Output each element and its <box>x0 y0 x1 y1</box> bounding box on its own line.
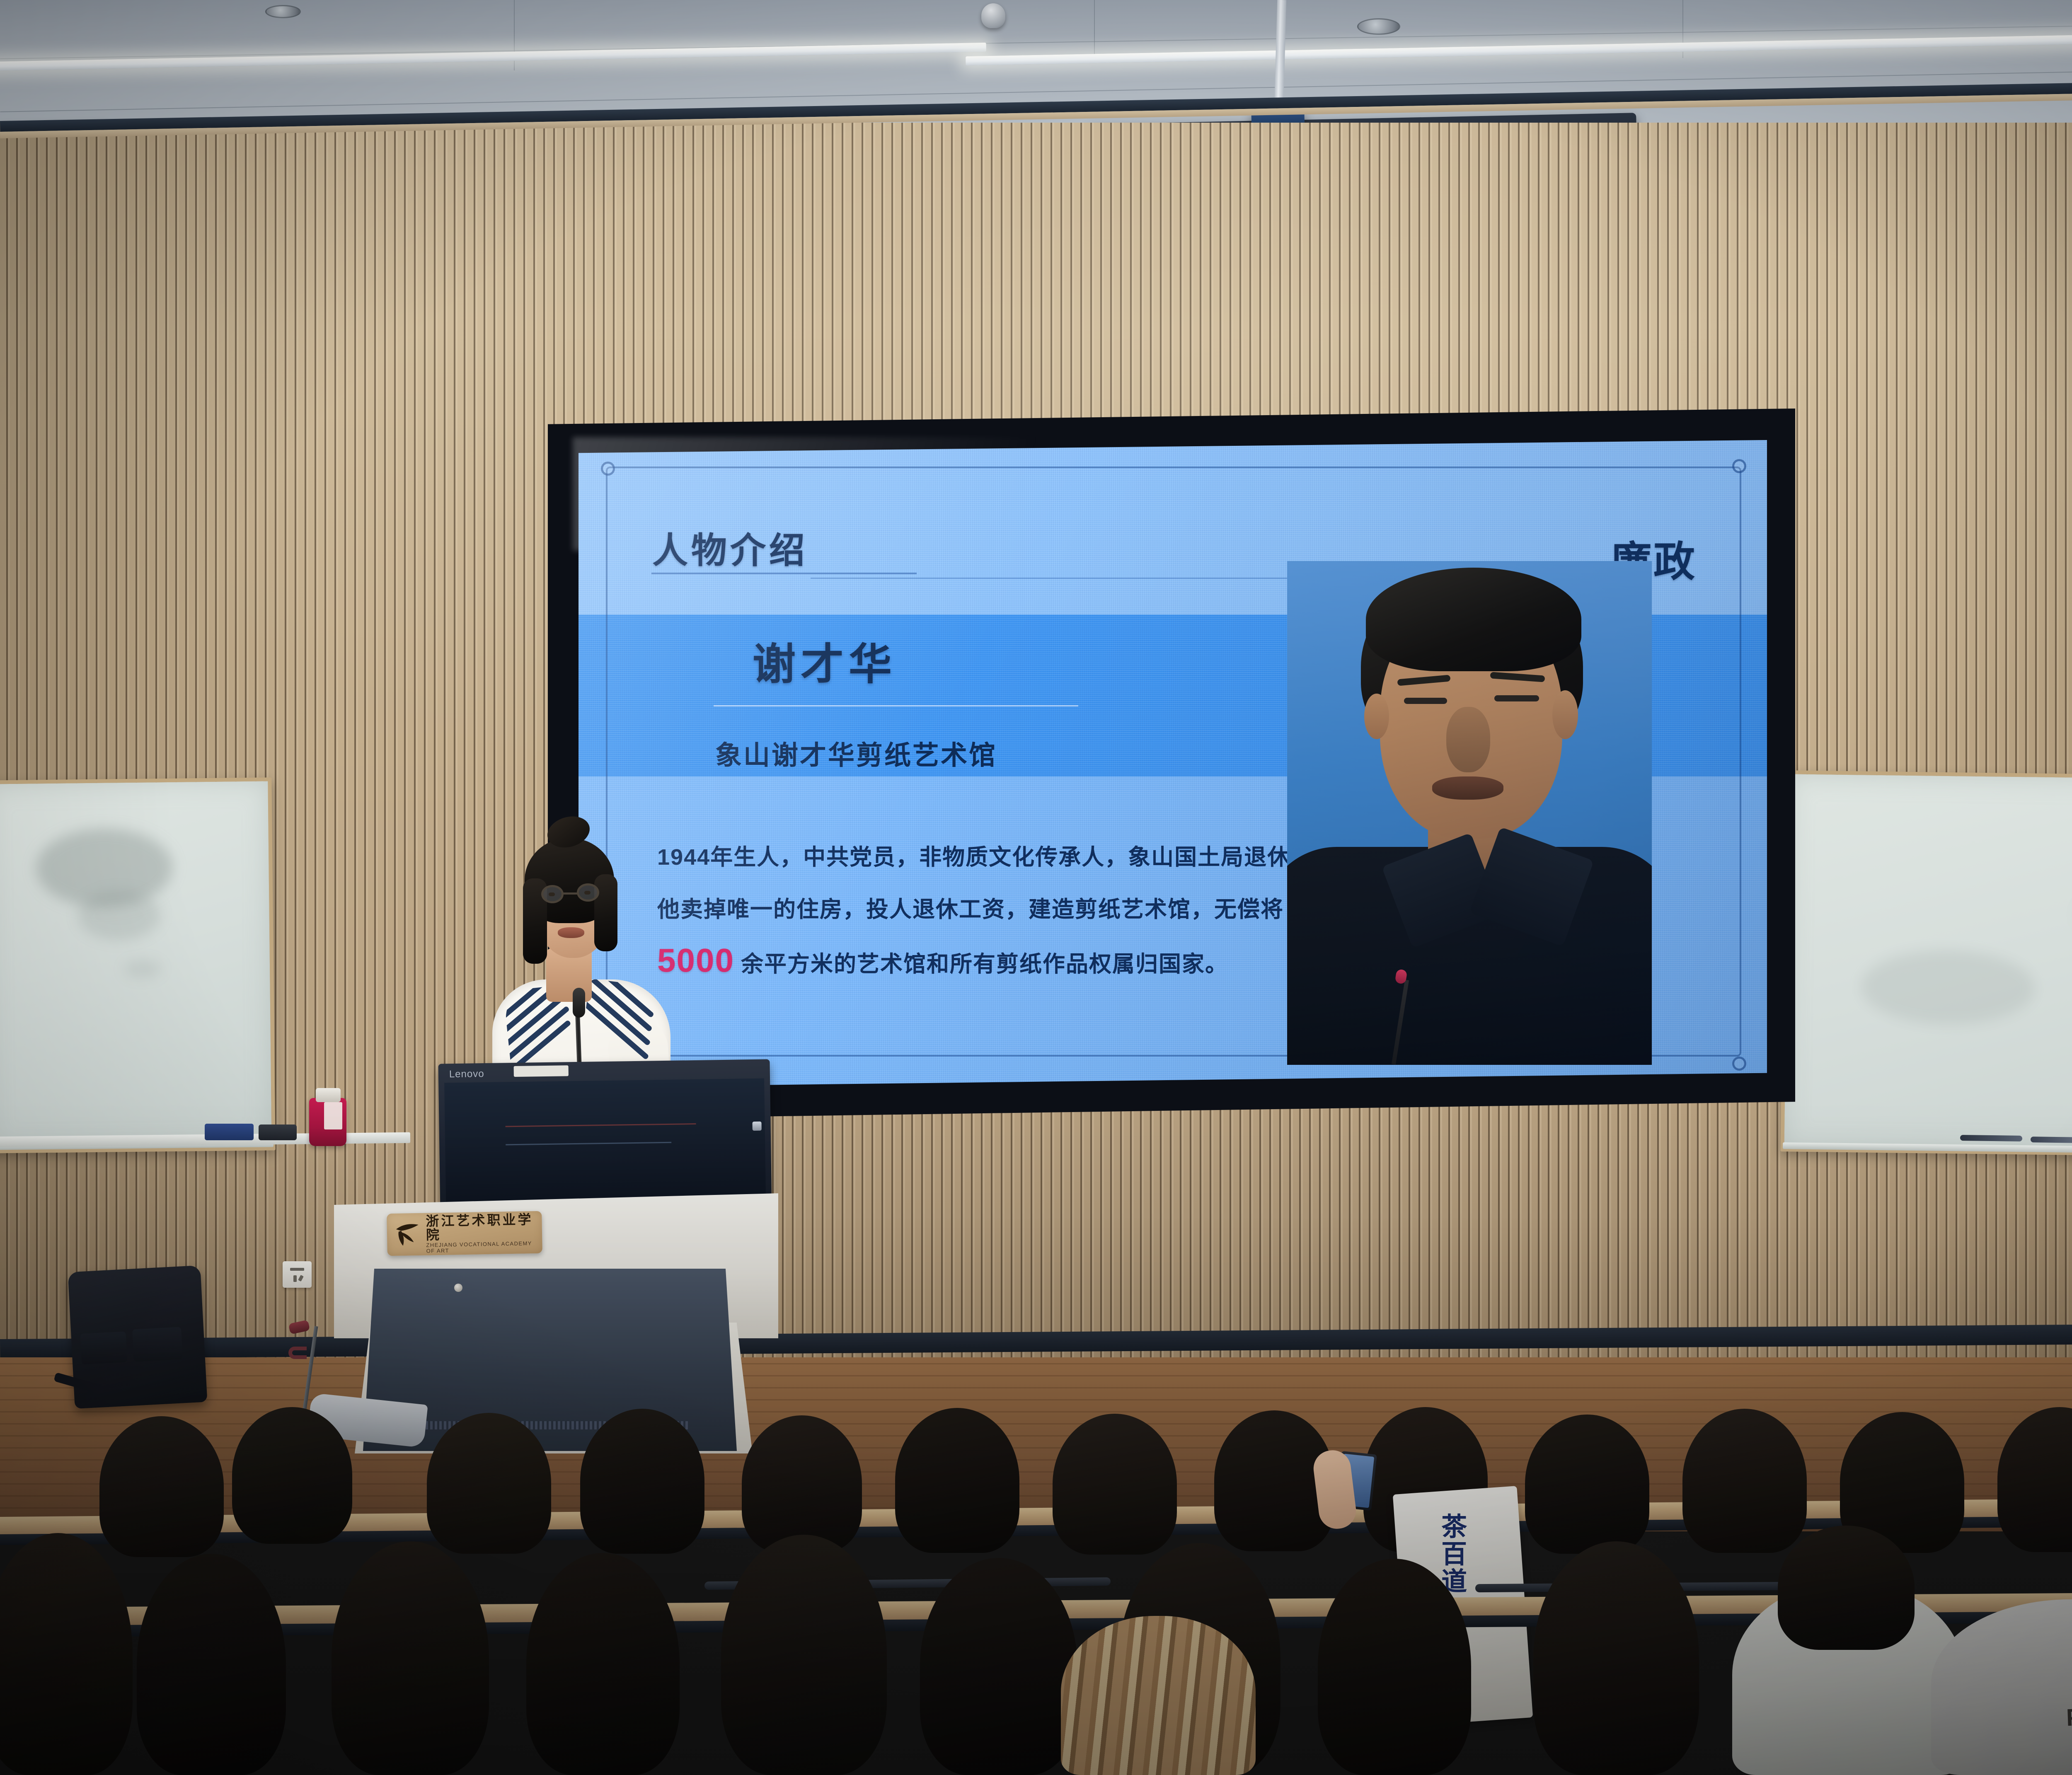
presentation-slide: 人物介绍 廉政 谢才华 象山谢才华剪纸艺术馆 1944年生人，中共党员，非物质文… <box>579 440 1767 1087</box>
audience-head <box>232 1407 352 1544</box>
highlight-number: 5000 <box>657 941 734 979</box>
bio-line-3: 5000 余平方米的艺术馆和所有剪纸作品权属归国家。 <box>657 941 1228 979</box>
audience-head <box>1525 1415 1649 1554</box>
audience-head <box>99 1416 224 1557</box>
ceiling-downlight-icon <box>265 5 301 18</box>
smoke-detector-icon <box>981 3 1005 28</box>
board-eraser[interactable] <box>205 1124 254 1140</box>
presenter-scarf <box>579 979 663 1070</box>
monitor-screen[interactable] <box>444 1079 766 1212</box>
audience-head-front <box>332 1541 489 1775</box>
monitor-power-led <box>753 1122 762 1131</box>
title-underline <box>651 573 917 574</box>
bottle-label <box>324 1102 342 1129</box>
audience-head-front <box>0 1533 133 1775</box>
whiteboard-marker[interactable] <box>2031 1137 2072 1143</box>
audience-head-front <box>920 1558 1077 1775</box>
ceiling-downlight-icon <box>1357 18 1400 35</box>
glasses-bridge <box>563 892 578 895</box>
monitor-sticker <box>514 1065 569 1077</box>
whiteboard-left <box>0 777 276 1153</box>
venue-plaque: 浙江艺术职业学院 ZHEJIANG VOCATIONAL ACADEMY OF … <box>387 1211 542 1256</box>
plaque-english: ZHEJIANG VOCATIONAL ACADEMY OF ART <box>426 1241 535 1254</box>
microphone-icon <box>573 988 585 1018</box>
bio-line-1: 1944年生人，中共党员，非物质文化传承人，象山国土局退休干部。 <box>657 839 1360 871</box>
slide-corner-dot-icon <box>601 462 615 476</box>
whiteboard-right <box>1780 770 2072 1159</box>
whiteboard-marker[interactable] <box>1960 1135 2022 1141</box>
slide-corner-dot-icon <box>1732 459 1746 473</box>
audience-head-front <box>1318 1559 1471 1775</box>
person-portrait-photo <box>1287 561 1652 1065</box>
audience-area: 茶百道 ChaPanda PANNE <box>0 1367 2072 1775</box>
audience-head-front <box>526 1553 680 1775</box>
plaque-text: 浙江艺术职业学院 ZHEJIANG VOCATIONAL ACADEMY OF … <box>426 1213 535 1254</box>
audience-head <box>742 1415 862 1552</box>
lecture-hall-photo: 人物介绍 廉政 谢才华 象山谢才华剪纸艺术馆 1944年生人，中共党员，非物质文… <box>0 0 2072 1775</box>
name-divider <box>714 705 1078 706</box>
audience-head <box>580 1409 704 1554</box>
audience-shoulders-grey <box>1931 1599 2072 1775</box>
person-name: 谢才华 <box>753 629 897 692</box>
power-outlet-icon <box>283 1261 312 1288</box>
highlight-tail: 余平方米的艺术馆和所有剪纸作品权属归国家。 <box>741 946 1228 978</box>
presenter-hair-side <box>594 874 617 951</box>
audience-shoulders-plaid <box>1061 1616 1256 1775</box>
audience-head <box>427 1413 551 1554</box>
podium-monitor[interactable]: Lenovo <box>438 1059 772 1215</box>
person-organization: 象山谢才华剪纸艺术馆 <box>715 734 997 772</box>
presenter-eye <box>584 891 591 895</box>
presenter-mouth <box>558 927 584 938</box>
audience-head <box>1053 1414 1177 1555</box>
audience-head-front <box>721 1535 887 1775</box>
academy-logo-icon <box>395 1222 421 1247</box>
podium-screw <box>454 1284 462 1292</box>
audience-head <box>1997 1407 2072 1552</box>
bottle-cap[interactable] <box>316 1088 341 1102</box>
audience-head <box>1682 1409 1807 1553</box>
audience-head <box>895 1408 1019 1553</box>
bio-line-2: 他卖掉唯一的住房，投人退休工资，建造剪纸艺术馆，无偿将 <box>657 891 1284 924</box>
audience-head-front <box>1778 1526 1915 1650</box>
audience-head-front <box>137 1554 286 1775</box>
slide-section-title: 人物介绍 <box>652 521 808 573</box>
hoodie-text: PANNE <box>2066 1700 2072 1731</box>
ceiling-seam <box>1094 0 1095 62</box>
board-eraser[interactable] <box>259 1124 297 1140</box>
audience-head-front <box>1533 1541 1699 1775</box>
presenter-eye <box>549 892 555 896</box>
slide-corner-dot-icon <box>1732 1057 1746 1071</box>
plaque-chinese: 浙江艺术职业学院 <box>426 1213 535 1243</box>
monitor-brand-label: Lenovo <box>449 1068 484 1080</box>
